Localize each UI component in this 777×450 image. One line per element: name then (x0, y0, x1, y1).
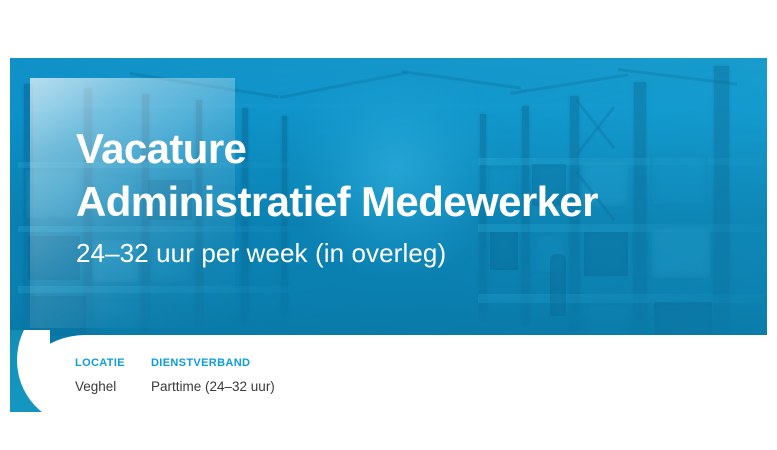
vacancy-banner-page: Vacature Administratief Medewerker 24–32… (0, 0, 777, 450)
meta-label-dienstverband: DIENSTVERBAND (151, 356, 275, 370)
page-title-line-1: Vacature (76, 122, 736, 175)
page-subtitle: 24–32 uur per week (in overleg) (76, 237, 736, 269)
page-title: Vacature Administratief Medewerker (76, 122, 736, 228)
meta-value-dienstverband: Parttime (24–32 uur) (151, 378, 275, 395)
page-title-line-2: Administratief Medewerker (76, 175, 736, 228)
meta-item-dienstverband: DIENSTVERBAND Parttime (24–32 uur) (151, 356, 275, 395)
meta-item-locatie: LOCATIE Veghel (75, 356, 151, 395)
hero-text-block: Vacature Administratief Medewerker 24–32… (76, 122, 736, 269)
meta-value-locatie: Veghel (75, 378, 151, 395)
vacancy-meta-strip: LOCATIE Veghel DIENSTVERBAND Parttime (2… (75, 356, 275, 395)
meta-label-locatie: LOCATIE (75, 356, 151, 370)
